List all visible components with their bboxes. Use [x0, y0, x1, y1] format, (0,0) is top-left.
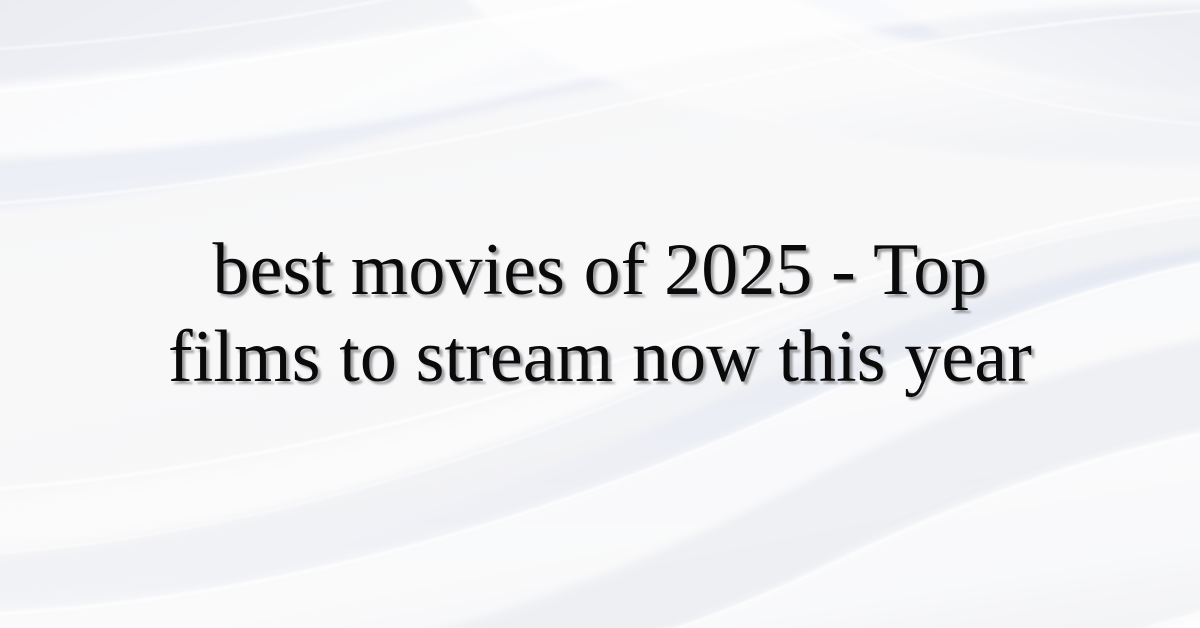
- share-card-canvas: best movies of 2025 - Top films to strea…: [0, 0, 1200, 628]
- page-title: best movies of 2025 - Top films to strea…: [150, 227, 1050, 402]
- headline-block: best movies of 2025 - Top films to strea…: [0, 0, 1200, 628]
